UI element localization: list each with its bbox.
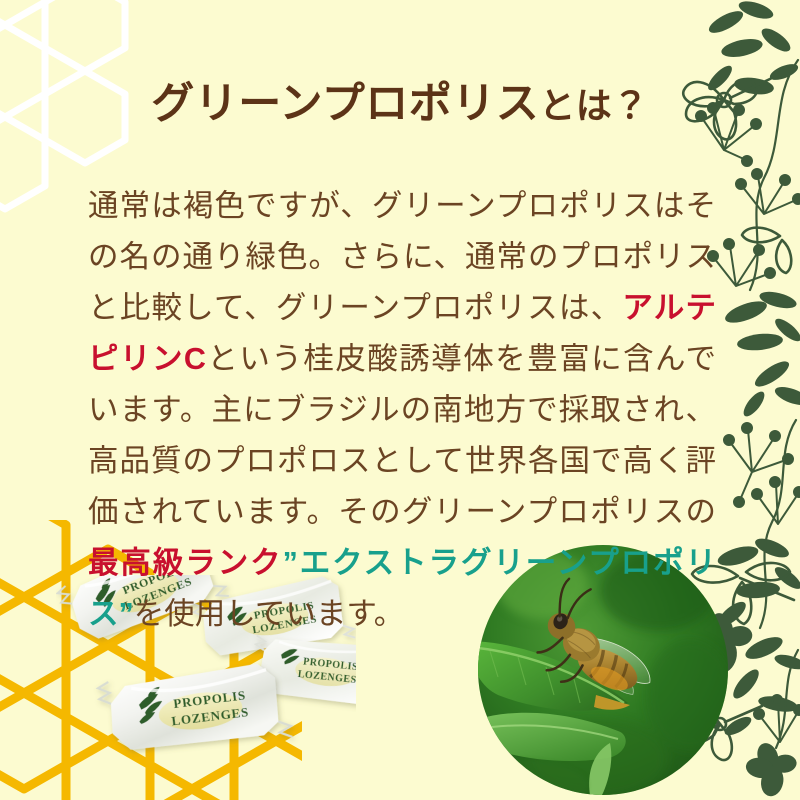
body-segment-normal-5: を使用しています。	[134, 597, 405, 631]
page-title-main: グリーンプロポリス	[151, 81, 539, 128]
page-title-suffix: とは？	[539, 86, 649, 126]
page-title: グリーンプロポリスとは？	[0, 81, 800, 128]
body-segment-red-3: 最高級ランク	[88, 546, 283, 580]
body-paragraph: 通常は褐色ですが、グリーンプロポリスはその名の通り緑色。さらに、通常のプロポリス…	[88, 181, 716, 640]
promo-panel: PROPOLIS LOZENGES PROPOLIS LOZENGES	[0, 0, 800, 800]
